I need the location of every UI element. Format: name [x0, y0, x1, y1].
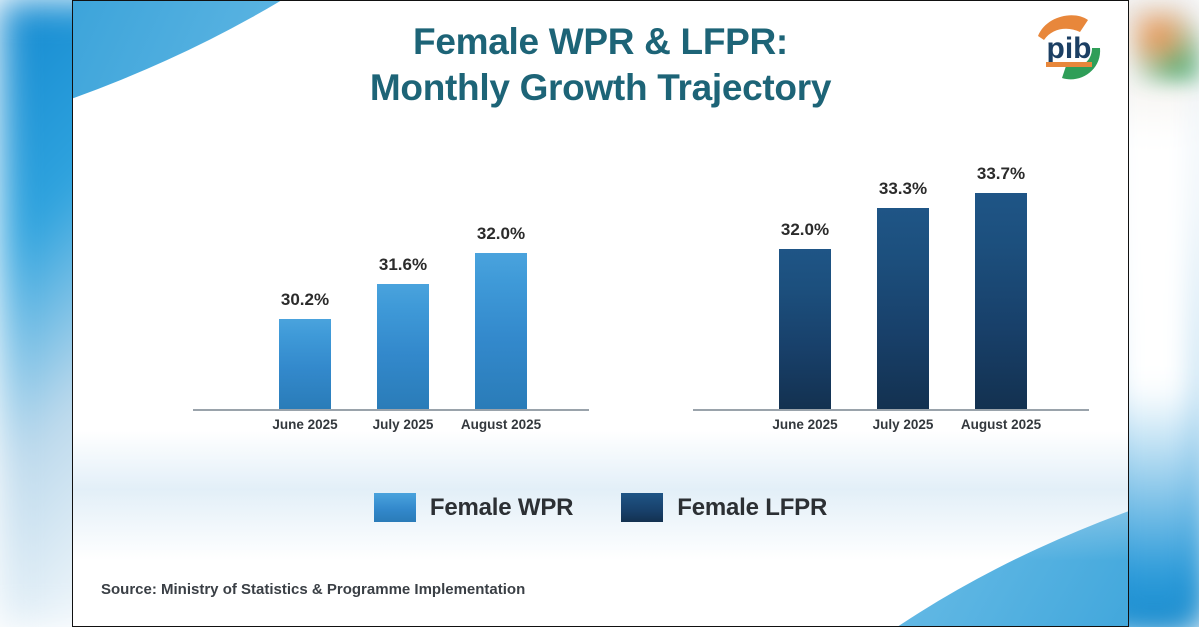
x-axis-lfpr — [693, 409, 1089, 411]
bar-value-wpr-1: 31.6% — [355, 255, 451, 275]
legend-item-female-lfpr[interactable]: Female LFPR — [621, 493, 827, 522]
plot-area-wpr: 30.2% June 2025 31.6% July 2025 32.0% Au… — [181, 151, 601, 409]
bar-value-wpr-2: 32.0% — [453, 224, 549, 244]
bar-wpr-2[interactable] — [475, 253, 527, 409]
infographic-card: Female WPR & LFPR: Monthly Growth Trajec… — [72, 0, 1129, 627]
legend-swatch-wpr-icon — [374, 493, 416, 522]
bar-group-wpr-1[interactable]: 31.6% July 2025 — [377, 151, 429, 409]
bar-group-lfpr-1[interactable]: 33.3% July 2025 — [877, 151, 929, 409]
bar-value-lfpr-0: 32.0% — [757, 220, 853, 240]
bar-lfpr-0[interactable] — [779, 249, 831, 409]
plot-area-lfpr: 32.0% June 2025 33.3% July 2025 33.7% Au… — [681, 151, 1101, 409]
legend-label-lfpr: Female LFPR — [677, 494, 827, 522]
svg-text:pib: pib — [1047, 32, 1092, 65]
legend-label-wpr: Female WPR — [430, 494, 573, 522]
bar-group-wpr-2[interactable]: 32.0% August 2025 — [475, 151, 527, 409]
bar-wpr-1[interactable] — [377, 284, 429, 409]
bar-lfpr-2[interactable] — [975, 193, 1027, 409]
x-axis-wpr — [193, 409, 589, 411]
chart-legend: Female WPR Female LFPR — [73, 493, 1128, 522]
chart-female-lfpr: 32.0% June 2025 33.3% July 2025 33.7% Au… — [681, 151, 1101, 441]
bar-group-wpr-0[interactable]: 30.2% June 2025 — [279, 151, 331, 409]
category-label-wpr-0: June 2025 — [253, 417, 357, 432]
category-label-lfpr-1: July 2025 — [851, 417, 955, 432]
category-label-wpr-2: August 2025 — [449, 417, 553, 432]
bar-group-lfpr-2[interactable]: 33.7% August 2025 — [975, 151, 1027, 409]
legend-swatch-lfpr-icon — [621, 493, 663, 522]
blurred-logo-ghost — [1130, 6, 1199, 84]
category-label-wpr-1: July 2025 — [351, 417, 455, 432]
bar-lfpr-1[interactable] — [877, 208, 929, 409]
category-label-lfpr-2: August 2025 — [949, 417, 1053, 432]
bar-wpr-0[interactable] — [279, 319, 331, 409]
category-label-lfpr-0: June 2025 — [753, 417, 857, 432]
title-line-2: Monthly Growth Trajectory — [73, 65, 1128, 111]
page-title: Female WPR & LFPR: Monthly Growth Trajec… — [73, 19, 1128, 111]
source-note: Source: Ministry of Statistics & Program… — [101, 581, 525, 598]
chart-female-wpr: 30.2% June 2025 31.6% July 2025 32.0% Au… — [181, 151, 601, 441]
pib-logo-icon: pib — [1030, 8, 1108, 88]
bar-value-lfpr-1: 33.3% — [855, 179, 951, 199]
bar-value-wpr-0: 30.2% — [257, 290, 353, 310]
bar-group-lfpr-0[interactable]: 32.0% June 2025 — [779, 151, 831, 409]
title-line-1: Female WPR & LFPR: — [73, 19, 1128, 65]
legend-item-female-wpr[interactable]: Female WPR — [374, 493, 573, 522]
bar-value-lfpr-2: 33.7% — [953, 164, 1049, 184]
